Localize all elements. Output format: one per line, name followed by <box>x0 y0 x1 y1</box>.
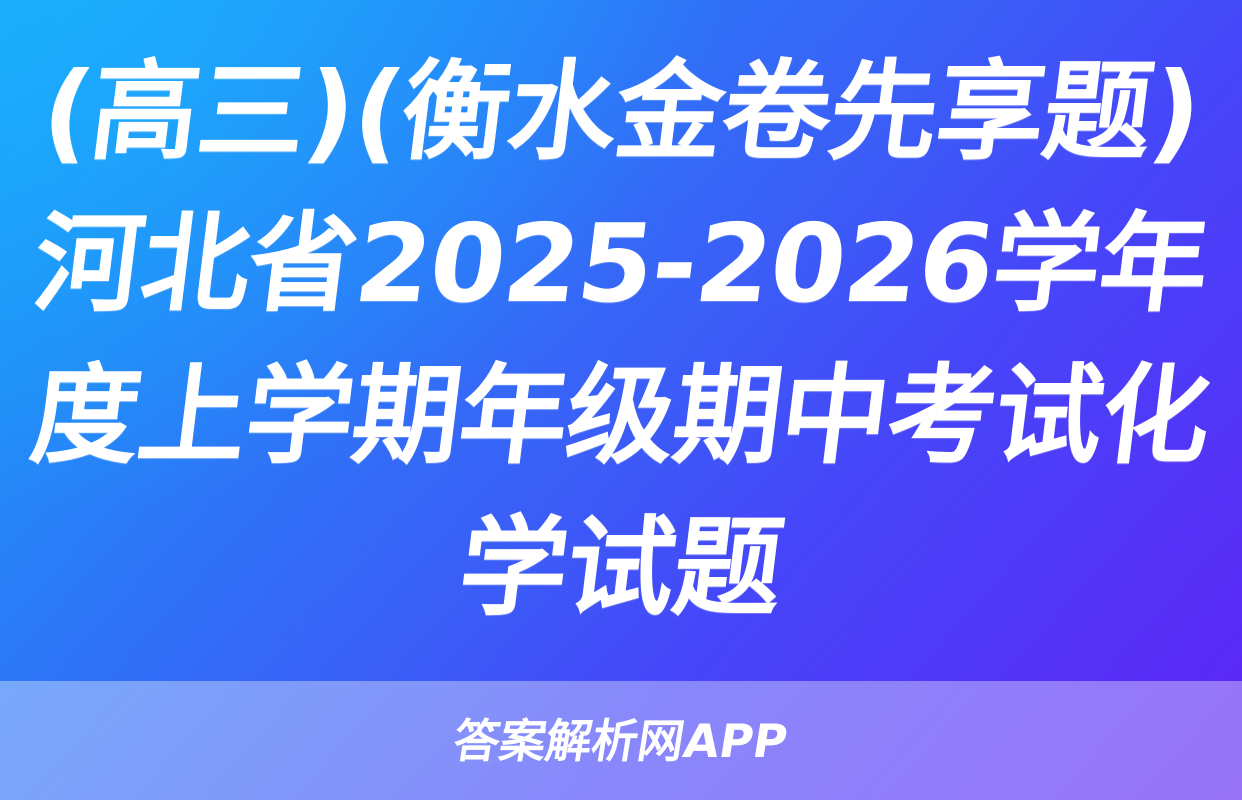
app-watermark-label: 答案解析网APP <box>451 718 791 764</box>
poster-title-block: (高三)(衡水金卷先享题) 河北省2025-2026学年 度上学期年级期中考试化… <box>0 0 1242 681</box>
page-title-line-4: 学试题 <box>451 493 791 645</box>
page-title-line-2: 河北省2025-2026学年 <box>26 189 1217 341</box>
poster-canvas: (高三)(衡水金卷先享题) 河北省2025-2026学年 度上学期年级期中考试化… <box>0 0 1242 800</box>
page-title-line-3: 度上学期年级期中考试化 <box>23 341 1219 493</box>
app-watermark-banner: 答案解析网APP <box>0 681 1242 800</box>
page-title-line-1: (高三)(衡水金卷先享题) <box>33 37 1208 189</box>
